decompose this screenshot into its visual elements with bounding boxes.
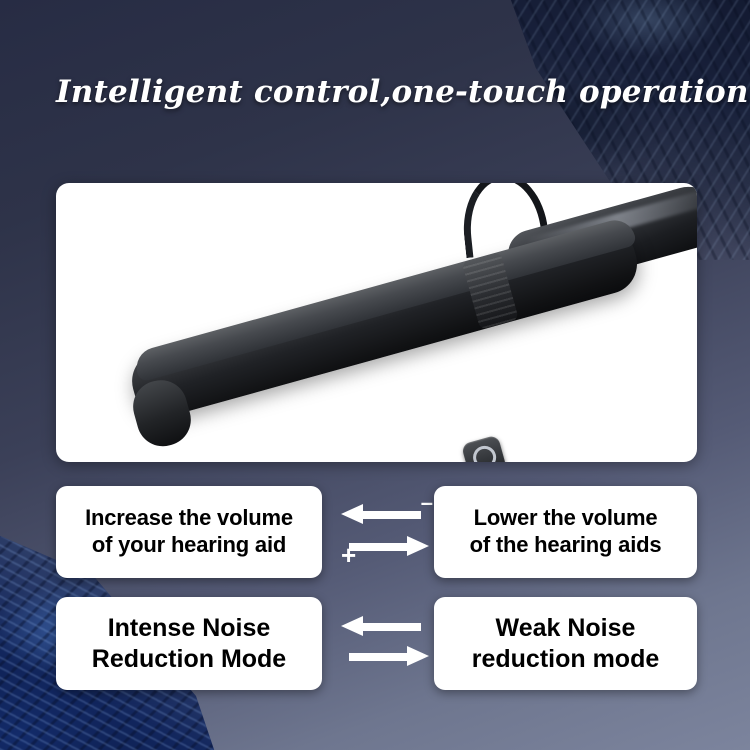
callout-line-2: Reduction Mode xyxy=(92,644,286,675)
arrow-head xyxy=(341,504,363,524)
callout-line-1: Intense Noise xyxy=(108,613,271,644)
circle-icon xyxy=(470,443,498,462)
product-infographic: Intelligent control,one-touch operation … xyxy=(0,0,750,750)
arrow-group-noise-mode xyxy=(333,608,437,680)
minus-sign-label: – xyxy=(421,492,433,514)
lanyard-loop-mask xyxy=(524,461,589,462)
arrow-shaft xyxy=(361,511,421,519)
callout-intense-noise-reduction: Intense Noise Reduction Mode xyxy=(56,597,322,690)
callout-line-2: of the hearing aids xyxy=(470,532,662,559)
callout-weak-noise-reduction: Weak Noise reduction mode xyxy=(434,597,697,690)
arrow-shaft xyxy=(349,543,409,551)
device-noise-mode-button xyxy=(461,435,507,462)
callout-increase-volume: Increase the volume of your hearing aid xyxy=(56,486,322,578)
plus-sign-label: + xyxy=(341,542,356,568)
callout-lower-volume: Lower the volume of the hearing aids xyxy=(434,486,697,578)
arrow-right-icon xyxy=(349,540,429,553)
callout-line-1: Increase the volume xyxy=(85,505,293,532)
arrow-shaft xyxy=(361,623,421,631)
arrow-right-icon xyxy=(349,650,429,663)
callout-line-2: reduction mode xyxy=(472,644,660,675)
arrow-head xyxy=(407,646,429,666)
arrow-shaft xyxy=(349,653,409,661)
callout-line-2: of your hearing aid xyxy=(92,532,286,559)
callout-line-1: Weak Noise xyxy=(496,613,636,644)
arrow-left-icon xyxy=(341,620,421,633)
arrow-group-volume: – + xyxy=(333,492,437,572)
callout-line-1: Lower the volume xyxy=(474,505,658,532)
arrow-head xyxy=(407,536,429,556)
headline-title: Intelligent control,one-touch operation xyxy=(56,74,716,110)
arrow-head xyxy=(341,616,363,636)
arrow-left-icon xyxy=(341,508,421,521)
product-photo-panel: − ⏻ + xyxy=(56,183,697,462)
